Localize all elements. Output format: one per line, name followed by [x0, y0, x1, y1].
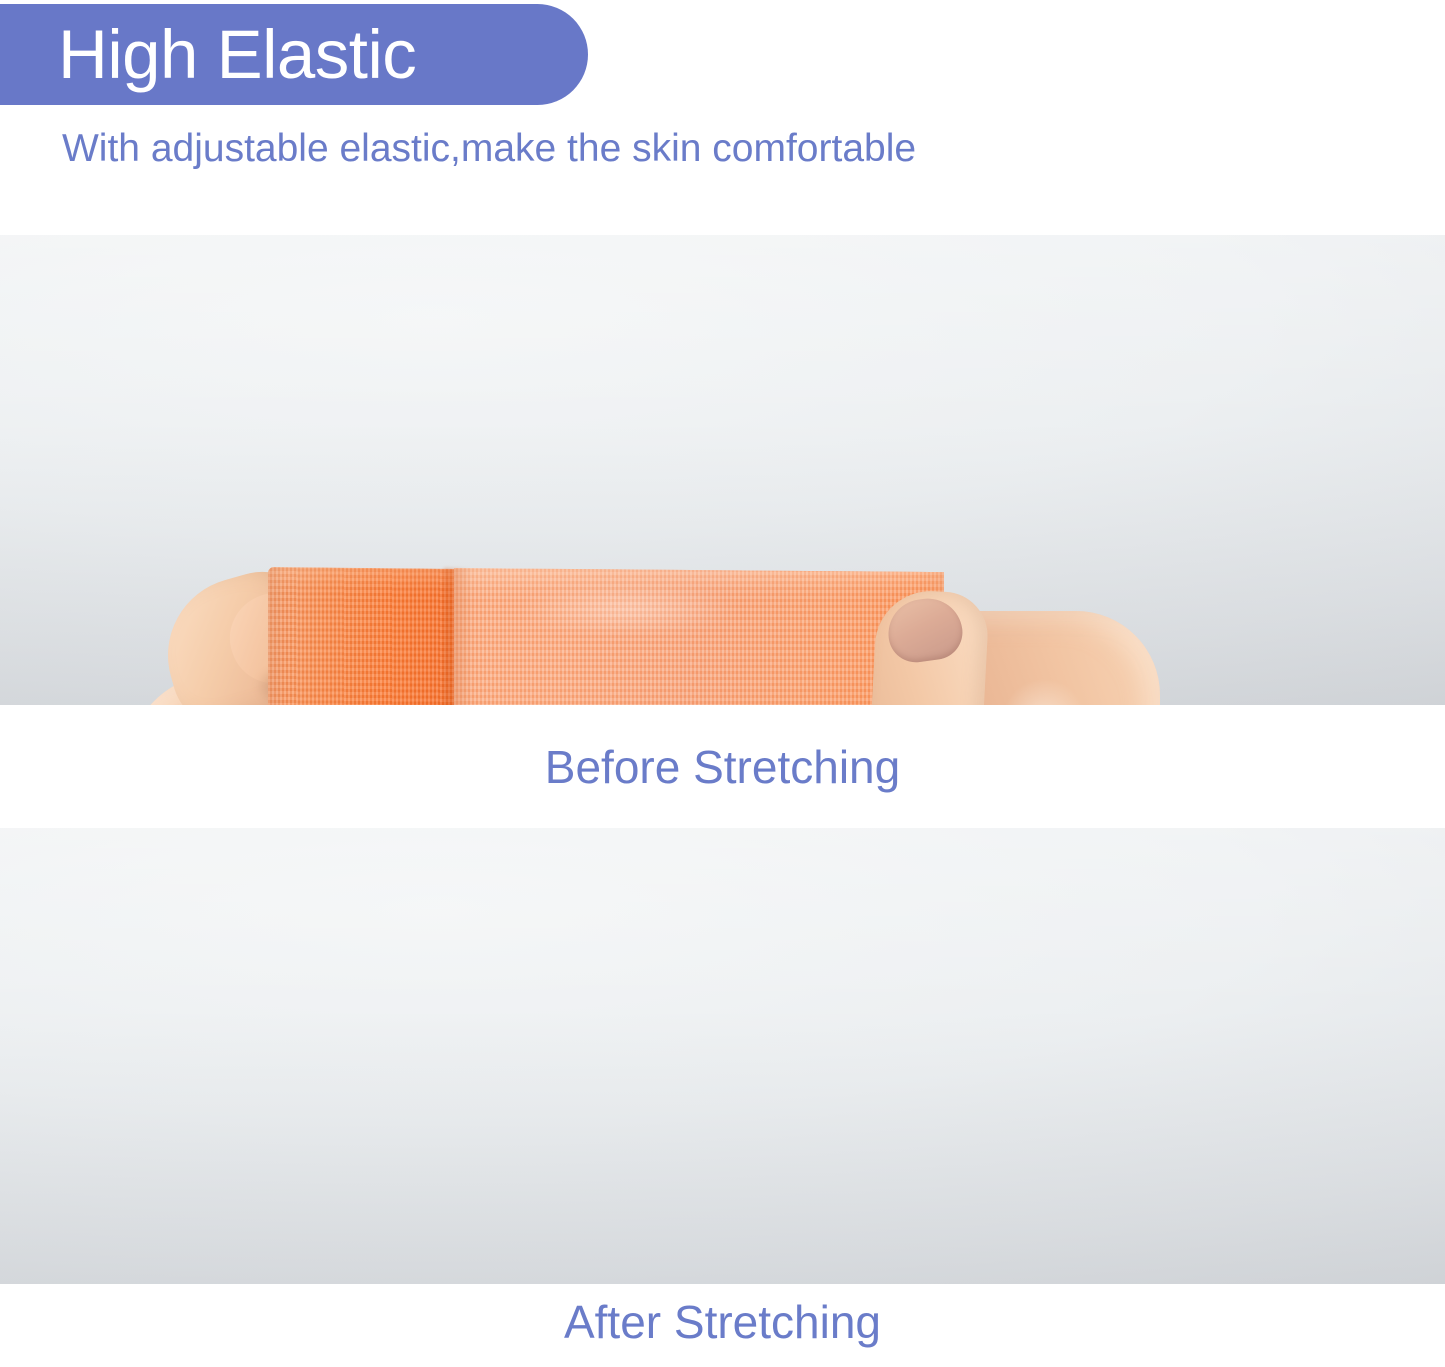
- caption-after-band: After Stretching: [0, 1284, 1445, 1367]
- caption-before-band: Before Stretching: [0, 705, 1445, 828]
- photo-before-stretching: [0, 235, 1445, 705]
- studio-backdrop: [0, 828, 1445, 1284]
- caption-after-label: After Stretching: [564, 1299, 881, 1345]
- bandage-unstretched: [268, 568, 928, 705]
- header-section: High Elastic With adjustable elastic,mak…: [0, 0, 1445, 235]
- high-elastic-badge: High Elastic: [0, 4, 588, 105]
- caption-before-label: Before Stretching: [545, 744, 900, 790]
- bandage-gripped-fold: [268, 567, 468, 705]
- photo-after-stretching: [0, 828, 1445, 1284]
- badge-label: High Elastic: [58, 20, 416, 89]
- bandage-fold-edge: [444, 568, 470, 705]
- bandage-highlight: [478, 574, 778, 644]
- right-hand: [852, 565, 1202, 705]
- header-subtitle: With adjustable elastic,make the skin co…: [62, 127, 916, 172]
